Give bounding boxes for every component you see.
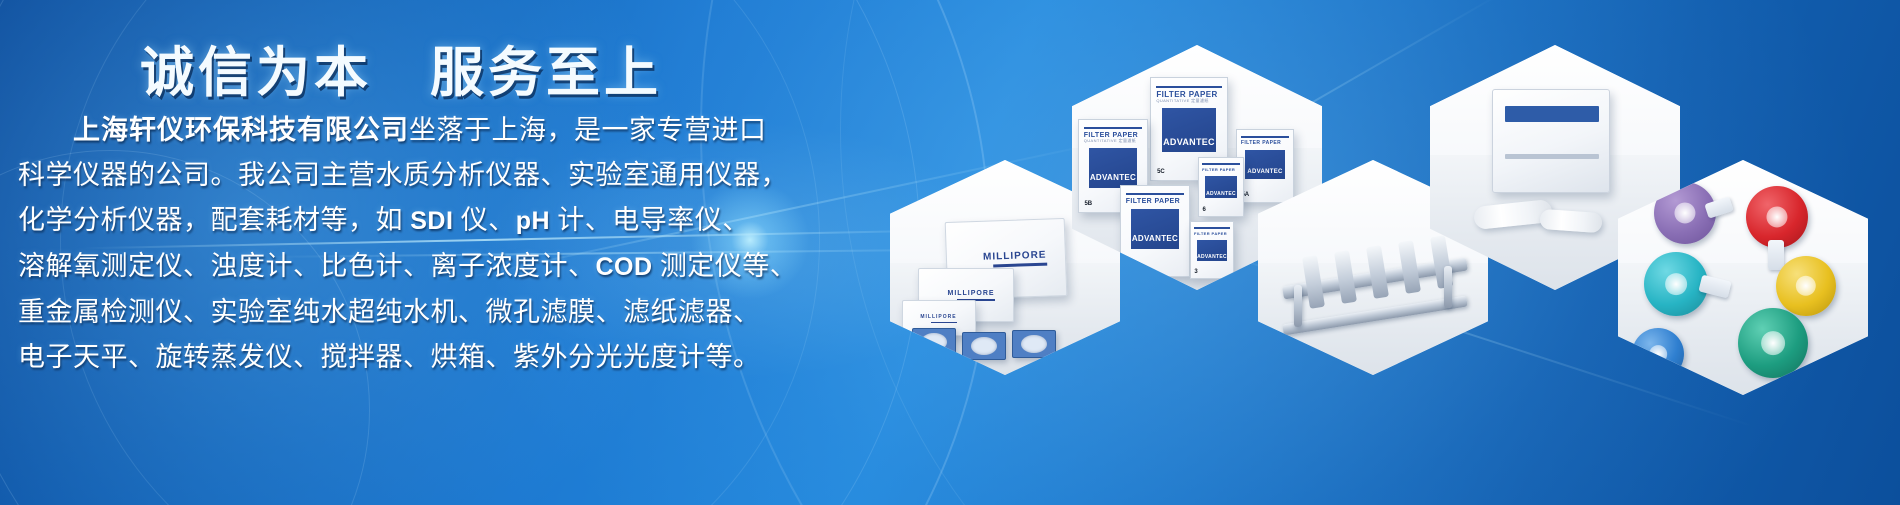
instrument-body [1492,89,1610,193]
millipore-brand-medium: MILLIPORE [947,290,994,297]
filter-paper-pack-3: FILTER PAPER ADVANTEC 3 [1190,221,1234,279]
instrument-display [1505,106,1599,122]
latin-term: COD [596,253,653,281]
rack-leg [1294,285,1302,327]
description-text: 测定仪等、 [653,251,798,281]
description-text: 科学仪器的公司。我公司主营水质分析仪器、实验室通用仪器， [18,160,788,190]
description-text: 化学分析仪器，配套耗材等，如 [18,205,410,235]
company-banner: 诚信为本 服务至上 上海轩仪环保科技有限公司坐落于上海，是一家专营进口科学仪器的… [0,0,1900,505]
latin-term: SDI [410,207,453,235]
description-line-3: 化学分析仪器，配套耗材等，如 SDI 仪、pH 计、电导率仪、 [18,198,758,244]
filter-paper-title: FILTER PAPER [1194,232,1233,236]
description-line-1: 上海轩仪环保科技有限公司坐落于上海，是一家专营进口 [18,108,758,153]
blue-syringe-filter-icon [1632,328,1684,380]
description-text: 仪、 [453,205,515,235]
filter-paper-brand: ADVANTEC [1237,169,1293,175]
filter-paper-title: FILTER PAPER [1126,198,1189,205]
description-text [18,115,73,145]
description-line-6: 电子天平、旋转蒸发仪、搅拌器、烘箱、紫外分光光度计等。 [18,335,758,380]
filter-paper-pack-6: FILTER PAPER ADVANTEC 6 [1198,157,1244,217]
filter-cartridge [1539,209,1602,233]
cyan-syringe-filter-icon [1644,252,1708,316]
filter-paper-brand: ADVANTEC [1191,254,1233,260]
filter-paper-brand: ADVANTEC [1151,137,1227,147]
product-hexagon-cluster: MILLIPORE MILLIPORE MILLIPORE FILTER P [900,0,1900,505]
red-syringe-filter-icon [1746,186,1808,248]
filter-paper-sub: QUANTITATIVE 定量濾紙 [1156,99,1227,103]
description-line-2: 科学仪器的公司。我公司主营水质分析仪器、实验室通用仪器， [18,153,758,198]
filter-paper-title: FILTER PAPER [1202,168,1243,172]
filter-paper-brand: ADVANTEC [1199,191,1243,197]
company-description: 上海轩仪环保科技有限公司坐落于上海，是一家专营进口科学仪器的公司。我公司主营水质… [18,108,758,380]
description-text: 溶解氧测定仪、浊度计、比色计、离子浓度计、 [18,251,596,281]
filter-paper-title: FILTER PAPER [1241,141,1293,146]
filter-paper-grade: 5B [1084,193,1092,209]
yellow-syringe-filter-icon [1776,256,1836,316]
banner-headline: 诚信为本 服务至上 [140,28,662,107]
millipore-brand-large: MILLIPORE [983,250,1047,263]
instrument-panel [1505,154,1599,159]
description-line-4: 溶解氧测定仪、浊度计、比色计、离子浓度计、COD 测定仪等、 [18,244,758,290]
filter-paper-pack-5a: FILTER PAPER ADVANTEC 5A [1236,129,1294,203]
filter-paper-grade: 7 [1126,257,1129,273]
filter-paper-sub: QUANTITATIVE 定量濾紙 [1084,139,1147,143]
green-millex-filter-icon [1738,308,1808,378]
filter-paper-brand: ADVANTEC [1079,173,1147,182]
latin-term: pH [516,207,550,235]
filter-paper-pack-7: FILTER PAPER ADVANTEC 7 [1120,185,1190,277]
description-text: 坐落于上海，是一家专营进口 [409,115,767,145]
filter-paper-grade: 6 [1203,204,1206,213]
description-text: 电子天平、旋转蒸发仪、搅拌器、烘箱、紫外分光光度计等。 [18,342,761,372]
filter-paper-brand: ADVANTEC [1121,234,1189,243]
filter-paper-grade: 5C [1157,161,1165,177]
company-name: 上海轩仪环保科技有限公司 [73,115,409,145]
petri-dish [962,332,1006,360]
red-filter-stem [1768,240,1784,270]
petri-dish [1012,330,1056,358]
description-text: 计、电导率仪、 [550,205,750,235]
filter-paper-grade: 3 [1194,266,1197,275]
description-text: 重金属检测仪、实验室纯水超纯水机、微孔滤膜、滤纸滤器、 [18,297,761,327]
petri-dish [912,328,956,356]
banner-text-block: 诚信为本 服务至上 上海轩仪环保科技有限公司坐落于上海，是一家专营进口科学仪器的… [0,0,900,505]
rack-leg [1444,266,1452,308]
description-line-5: 重金属检测仪、实验室纯水超纯水机、微孔滤膜、滤纸滤器、 [18,290,758,335]
millipore-brand-small: MILLIPORE [920,314,956,320]
